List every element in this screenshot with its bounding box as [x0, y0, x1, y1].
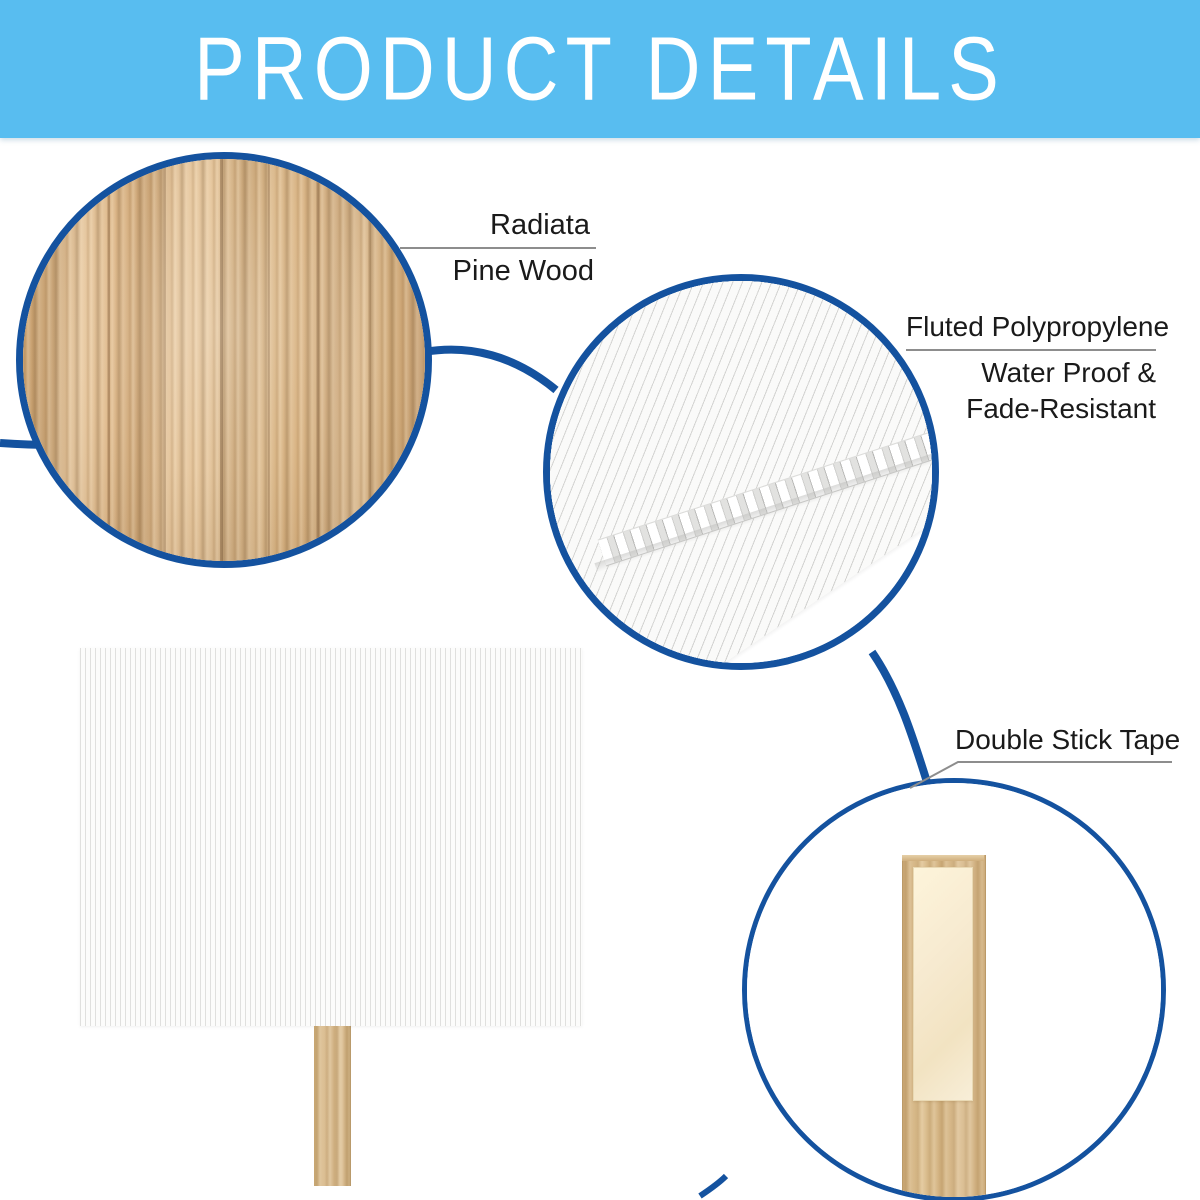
flute-stage: [550, 281, 932, 663]
callout-fluted-polypropylene: Fluted Polypropylene Water Proof & Fade-…: [906, 310, 1156, 427]
wood-vignette-overlay: [23, 159, 425, 561]
detail-circle-double-stick-tape: [742, 778, 1166, 1200]
detail-circle-fluted-polypropylene: [543, 274, 939, 670]
product-details-infographic: PRODUCT DETAILS Radiata Pine Wood: [0, 0, 1200, 1200]
callout-fluted-line2: Water Proof &: [906, 355, 1156, 391]
connector-circle1-to-circle2: [424, 350, 556, 390]
product-stake-top-cap: [314, 866, 349, 871]
callout-pine-wood-rule: [400, 247, 596, 249]
callout-fluted-line3: Fade-Resistant: [906, 391, 1156, 427]
callout-tape-leader-line: [900, 752, 1180, 792]
wooden-stake-top-edge: [902, 855, 984, 861]
double-stick-tape-strip-icon: [913, 867, 973, 1101]
callout-pine-wood-line2: Pine Wood: [400, 253, 596, 289]
callout-pine-wood: Radiata Pine Wood: [400, 208, 596, 289]
page-title: PRODUCT DETAILS: [0, 0, 1200, 150]
tape-stage: [747, 783, 1161, 1197]
corrugated-yard-sign: [80, 648, 582, 1026]
callout-pine-wood-line1: Radiata: [400, 208, 596, 242]
product-stake-lower: [314, 1026, 349, 1186]
callout-fluted-rule: [906, 349, 1156, 351]
callout-fluted-line1: Fluted Polypropylene: [906, 310, 1156, 344]
detail-circle-pine-wood: [16, 152, 432, 568]
header-banner: PRODUCT DETAILS: [0, 0, 1200, 138]
connector-bottom-stub: [700, 1176, 726, 1196]
